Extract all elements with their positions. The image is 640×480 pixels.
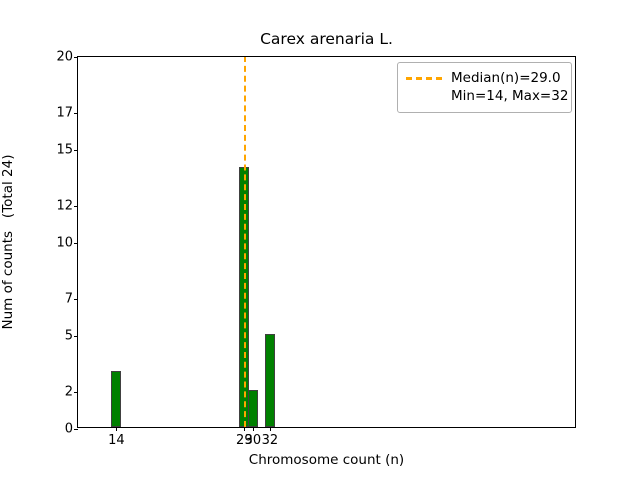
y-tick-mark	[74, 392, 78, 393]
y-tick-label: 7	[65, 291, 73, 306]
y-tick-mark	[74, 150, 78, 151]
y-tick-label: 20	[56, 50, 73, 65]
chart-title: Carex arenaria L.	[77, 30, 576, 48]
y-tick-mark	[74, 336, 78, 337]
y-axis-label: Num of counts (Total 24)	[0, 56, 22, 428]
y-tick-mark	[74, 299, 78, 300]
y-tick-label: 0	[65, 422, 73, 437]
y-tick-label: 12	[56, 198, 73, 213]
legend-entry-minmax: Min=14, Max=32	[406, 87, 563, 105]
dashed-line-icon	[406, 77, 442, 80]
y-tick-mark	[74, 113, 78, 114]
legend-label-median: Median(n)=29.0	[451, 69, 561, 87]
x-tick-label: 14	[108, 433, 125, 448]
legend-entry-median: Median(n)=29.0	[406, 69, 563, 87]
x-tick-mark	[244, 427, 245, 431]
bar	[248, 390, 258, 427]
y-tick-mark	[74, 429, 78, 430]
x-tick-label: 30	[245, 433, 262, 448]
bar	[265, 334, 275, 427]
y-tick-label: 15	[56, 143, 73, 158]
y-tick-label: 5	[65, 329, 73, 344]
x-tick-mark	[270, 427, 271, 431]
bar	[111, 371, 121, 427]
figure-canvas: Carex arenaria L. 0257101215172014293032…	[0, 0, 640, 480]
legend-box: Median(n)=29.0 Min=14, Max=32	[397, 62, 572, 113]
y-tick-mark	[74, 243, 78, 244]
x-axis-label: Chromosome count (n)	[77, 452, 576, 468]
x-tick-label: 32	[262, 433, 279, 448]
median-line	[244, 57, 246, 427]
y-tick-label: 10	[56, 236, 73, 251]
y-tick-label: 2	[65, 384, 73, 399]
x-tick-mark	[253, 427, 254, 431]
legend-label-minmax: Min=14, Max=32	[451, 87, 568, 105]
y-tick-mark	[74, 206, 78, 207]
y-tick-label: 17	[56, 105, 73, 120]
y-tick-mark	[74, 57, 78, 58]
x-tick-mark	[116, 427, 117, 431]
